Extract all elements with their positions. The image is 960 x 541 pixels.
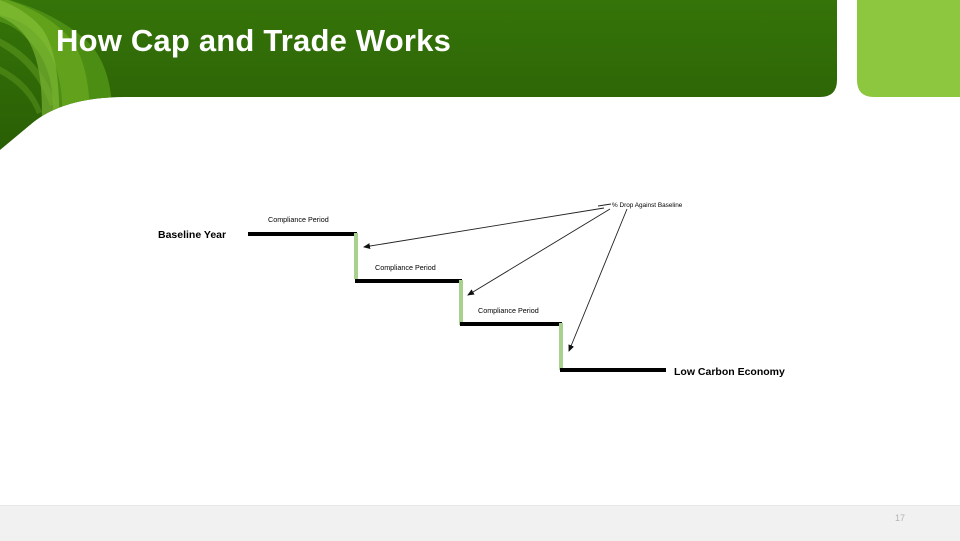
baseline-year-label: Baseline Year — [158, 229, 226, 241]
callout-arrow-2 — [468, 209, 610, 295]
footer-strip — [0, 505, 960, 541]
callout-leader — [598, 204, 611, 206]
header-accent-block — [857, 0, 960, 97]
slide-canvas: How Cap and Trade Works — [0, 0, 960, 540]
percent-drop-callout-label: % Drop Against Baseline — [612, 202, 683, 209]
compliance-period-label-2: Compliance Period — [375, 263, 436, 272]
cap-and-trade-diagram: Baseline Year Low Carbon Economy Complia… — [0, 150, 960, 500]
page-number: 17 — [895, 513, 905, 523]
compliance-period-label-3: Compliance Period — [478, 306, 539, 315]
page-title: How Cap and Trade Works — [56, 23, 816, 59]
compliance-period-label-1: Compliance Period — [268, 215, 329, 224]
low-carbon-economy-label: Low Carbon Economy — [674, 366, 785, 378]
callout-arrow-1 — [364, 208, 604, 247]
callout-arrow-3 — [569, 209, 627, 351]
